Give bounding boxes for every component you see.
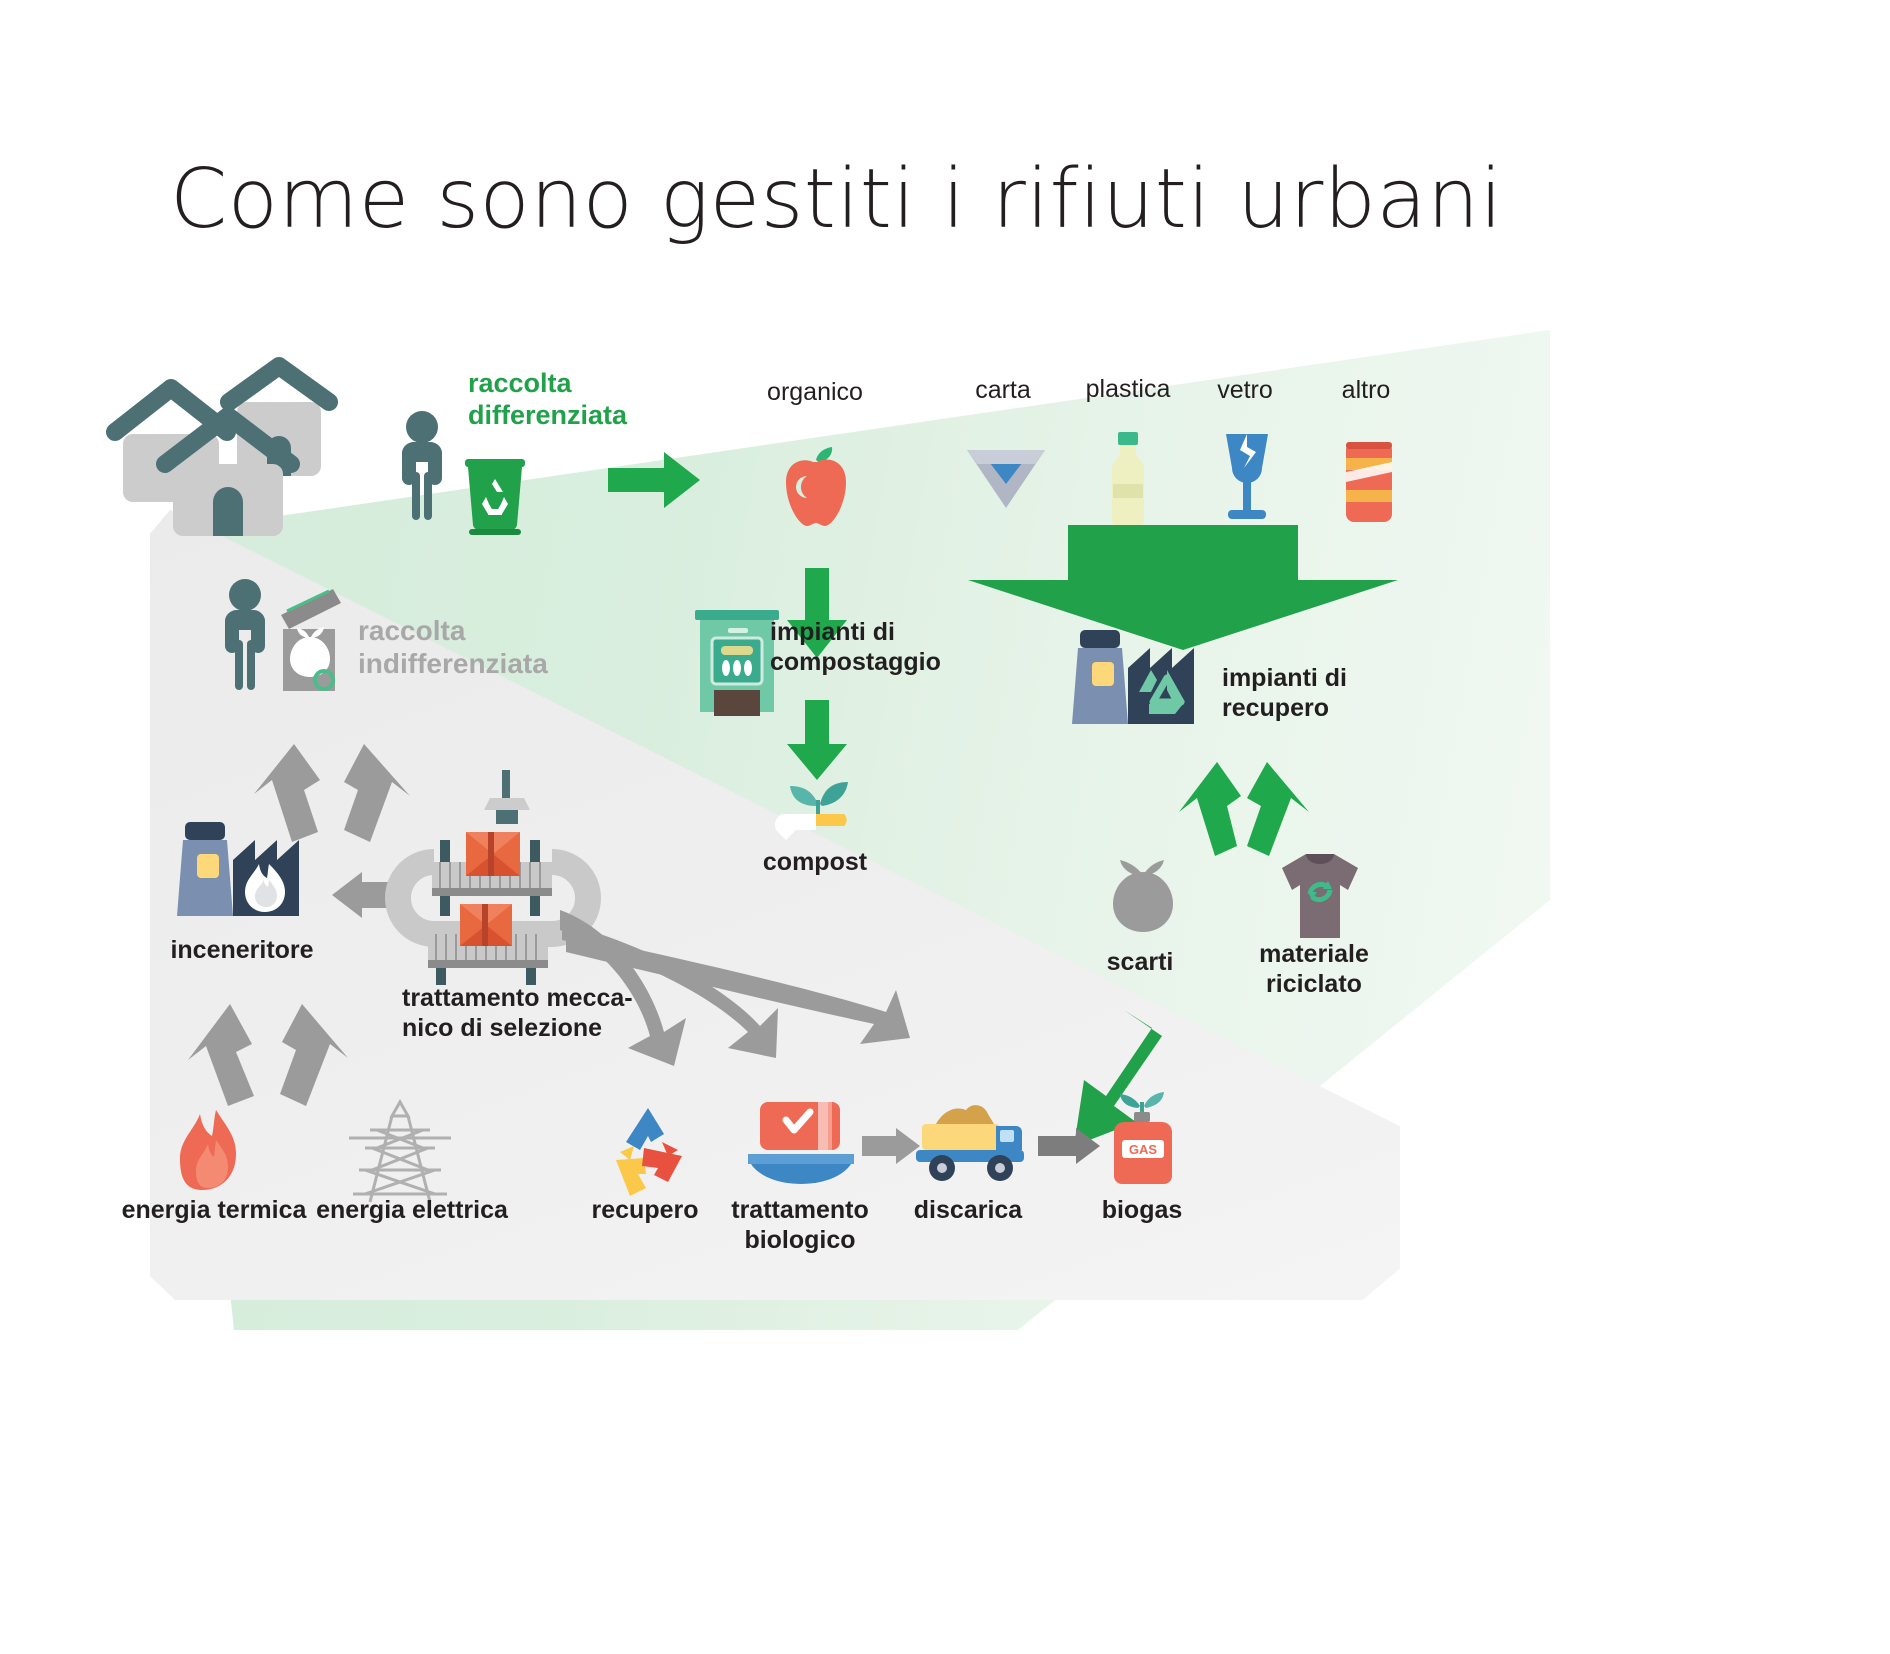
material-label-carta: carta [975,376,1031,406]
label-raccolta-indifferenziata: raccolta indifferenziata [358,614,548,680]
grey-arrow-icon-3 [200,1000,340,1110]
node-label-inceneritore: inceneritore [170,936,313,966]
electric-pylon-icon [345,1100,455,1204]
recycle-symbol-icon [608,1104,688,1190]
grey-arrow-fan-icon [560,900,1020,1080]
node-label-energia-elettrica: energia elettrica [316,1196,508,1226]
node-label-discarica: discarica [914,1196,1022,1226]
can-icon [1340,438,1398,526]
person-icon-green-stream [392,410,452,520]
node-label-scarti: scarti [1107,948,1174,978]
node-label-recupero-basso: recupero [592,1196,699,1226]
node-label-trattamento-biologico: trattamento biologico [731,1196,869,1255]
biogas-canister-icon: GAS [1110,1088,1176,1188]
conveyor-belt-icon [404,770,586,985]
arrow-down-icon-2 [787,700,847,780]
dump-truck-icon [912,1096,1028,1186]
houses-icon [95,372,355,532]
node-label-materiale-riciclato: materiale riciclato [1259,940,1369,999]
node-label-compostaggio: impianti di compostaggio [770,618,941,677]
trash-bin-icon [277,585,345,691]
bio-treatment-icon [746,1098,856,1194]
svg-text:GAS: GAS [1129,1142,1158,1157]
waste-bag-icon [1108,856,1178,934]
flame-icon [180,1110,252,1210]
grey-arrow-icon-5 [1038,1128,1100,1164]
node-label-biogas: biogas [1102,1196,1183,1226]
node-label-recupero: impianti di recupero [1222,664,1347,723]
incinerator-icon [175,822,325,934]
plastic-bottle-icon [1101,432,1155,528]
material-label-plastica: plastica [1086,375,1171,405]
infographic-canvas: Come sono gestiti i rifiuti urbani [0,0,1890,1654]
recovery-factory-icon [1070,630,1220,742]
material-label-vetro: vetro [1217,376,1273,406]
material-label-organico: organico [767,378,863,408]
sprout-hand-icon [778,770,860,840]
node-label-compost: compost [763,848,867,878]
material-label-altro: altro [1342,376,1391,406]
page-title: Come sono gestiti i rifiuti urbani [170,152,1503,247]
paper-icon [963,444,1049,514]
arrow-right-icon [608,452,700,508]
recycle-bin-icon [462,453,528,539]
apple-icon [786,446,848,526]
node-label-energia-termica: energia termica [122,1196,307,1226]
label-raccolta-differenziata: raccolta differenziata [468,368,627,432]
glass-icon [1218,432,1276,526]
recycled-sweater-icon [1278,850,1362,942]
person-icon-grey-stream [215,578,275,690]
